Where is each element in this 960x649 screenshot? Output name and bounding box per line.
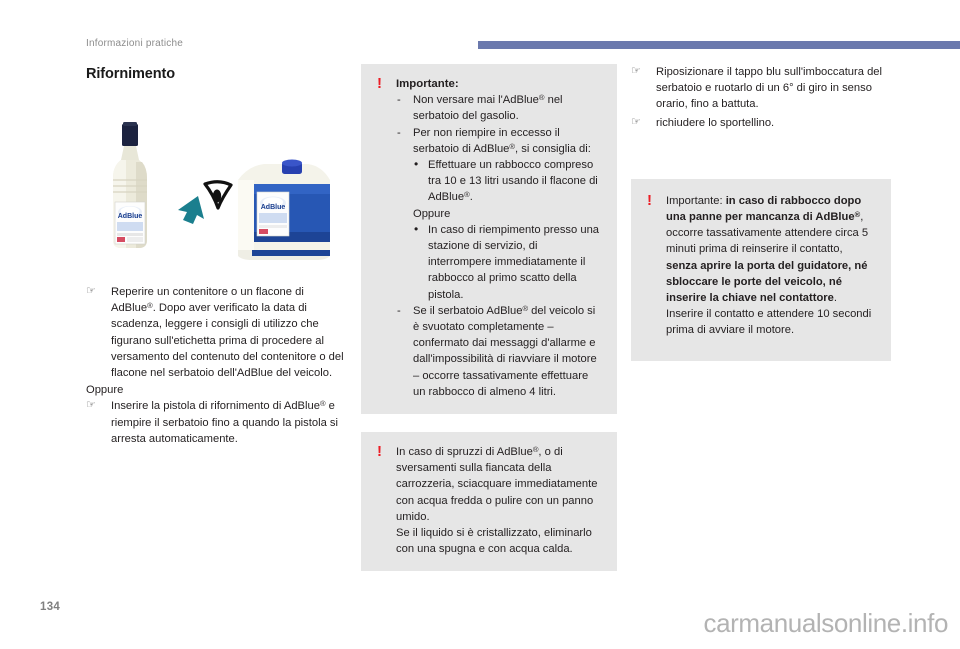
warning-exclamation-icon: ! <box>375 76 384 92</box>
page-number: 134 <box>40 601 60 613</box>
list-item: ☞ Reperire un contenitore o un flacone d… <box>86 284 344 381</box>
oppure-label: Oppure <box>86 382 344 398</box>
breadcrumb-chapter: Informazioni pratiche <box>86 38 183 49</box>
note-paragraph: Inserire il contatto e attendere 10 seco… <box>666 306 875 338</box>
note-bold-2: senza aprire la porta del guidatore, né … <box>666 260 867 304</box>
note-dot-text: Effettuare un rabbocco compreso tra 10 e… <box>428 159 598 203</box>
watermark: carmanualsonline.info <box>703 608 948 639</box>
note-paragraph: Importante: in caso di rabbocco dopo una… <box>666 193 875 306</box>
hand-pointer-icon: ☞ <box>86 283 96 299</box>
list-item-text: Riposizionare il tappo blu sull'imboccat… <box>656 66 882 110</box>
note-dot-item: • In caso di riempimento presso una staz… <box>413 222 603 303</box>
dash-marker: - <box>397 92 401 108</box>
note-dash-item: - Per non riempire in eccesso il serbato… <box>396 125 603 157</box>
list-item-text: Reperire un contenitore o un flacone di … <box>111 286 344 379</box>
list-item: ☞ richiudere lo sportellino. <box>631 115 891 131</box>
note-dash-item: - Se il serbatoio AdBlue® del veicolo si… <box>396 303 603 400</box>
eye-symbol-left-icon <box>205 182 231 208</box>
arrow-to-bottle-label-icon <box>178 196 204 224</box>
warning-exclamation-icon: ! <box>375 444 384 460</box>
dash-marker: - <box>397 303 401 319</box>
note-paragraph: Se il liquido si è cristallizzato, elimi… <box>396 525 603 557</box>
right-column: ☞ Riposizionare il tappo blu sull'imbocc… <box>631 64 891 361</box>
adblue-bottle-icon: AdBlue <box>113 122 147 248</box>
note-dash-text: Se il serbatoio AdBlue® del veicolo si è… <box>413 305 597 398</box>
list-item-text: Inserire la pistola di rifornimento di A… <box>111 400 338 444</box>
important-note-box-1: ! Importante: - Non versare mai l'AdBlue… <box>361 64 617 414</box>
note-lead: Importante: <box>666 195 726 207</box>
list-item-text: richiudere lo sportellino. <box>656 117 774 129</box>
note-paragraph: In caso di spruzzi di AdBlue®, o di sver… <box>396 444 603 525</box>
list-item: ☞ Inserire la pistola di rifornimento di… <box>86 398 344 447</box>
jerrycan-label-text: AdBlue <box>261 204 286 211</box>
hand-pointer-icon: ☞ <box>631 114 641 130</box>
hand-pointer-icon: ☞ <box>631 63 641 79</box>
note-dot-item: • Effettuare un rabbocco compreso tra 10… <box>413 157 603 206</box>
adblue-bottle-and-jerrycan-illustration: AdBlue <box>86 106 344 266</box>
note-dot-text: In caso di riempimento presso una stazio… <box>428 224 599 301</box>
important-note-box-3: ! Importante: in caso di rabbocco dopo u… <box>631 179 891 361</box>
dash-marker: - <box>397 125 401 141</box>
warning-exclamation-icon: ! <box>645 193 654 209</box>
illustration-svg: AdBlue <box>86 106 344 266</box>
left-column: AdBlue <box>86 106 344 447</box>
important-note-box-2: ! In caso di spruzzi di AdBlue®, o di sv… <box>361 432 617 571</box>
bullet-dot-icon: • <box>414 156 418 172</box>
page-title: Rifornimento <box>86 66 175 82</box>
header-rule <box>478 41 960 49</box>
middle-column: ! Importante: - Non versare mai l'AdBlue… <box>361 64 617 571</box>
bottle-label-text: AdBlue <box>118 213 143 220</box>
hand-pointer-icon: ☞ <box>86 397 96 413</box>
bullet-dot-icon: • <box>414 221 418 237</box>
note-dash-item: - Non versare mai l'AdBlue® nel serbatoi… <box>396 92 603 124</box>
note-oppure-label: Oppure <box>413 206 603 222</box>
note-title: Importante: <box>396 76 603 92</box>
note-dash-text: Per non riempire in eccesso il serbatoio… <box>413 127 591 155</box>
adblue-jerrycan-icon: AdBlue <box>238 160 330 261</box>
note-dash-text: Non versare mai l'AdBlue® nel serbatoio … <box>413 94 563 122</box>
list-item: ☞ Riposizionare il tappo blu sull'imbocc… <box>631 64 891 113</box>
